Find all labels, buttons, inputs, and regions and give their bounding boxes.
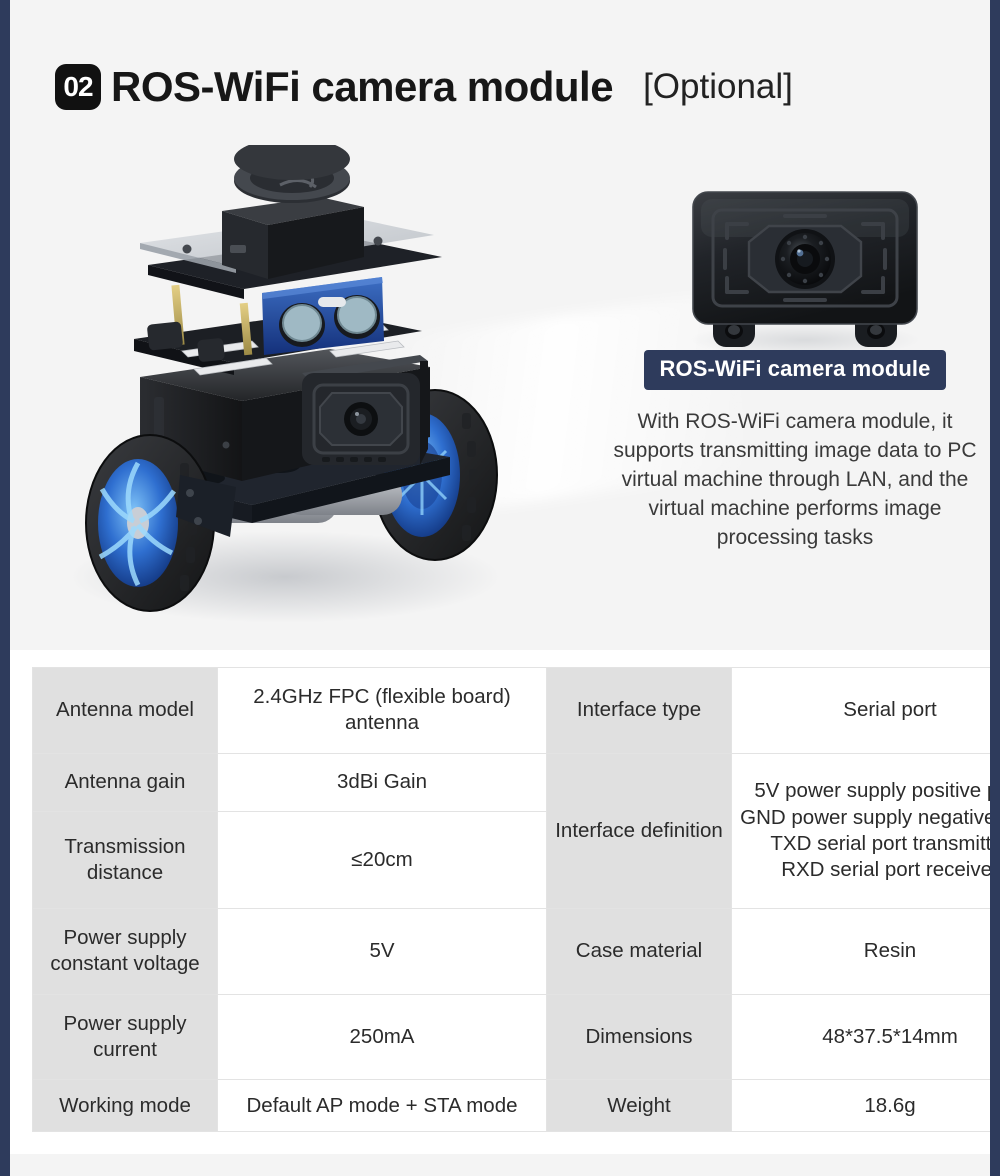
spec-value: Serial port [732, 668, 1000, 754]
spec-value: Default AP mode + STA mode [218, 1080, 547, 1132]
spec-table-container: Antenna model 2.4GHz FPC (flexible board… [10, 650, 990, 1154]
spec-value: 5V [218, 908, 547, 994]
spec-value: 3dBi Gain [218, 753, 547, 811]
robot-image [30, 145, 550, 635]
spec-label: Working mode [33, 1080, 218, 1132]
module-name-badge: ROS-WiFi camera module [644, 350, 947, 390]
spec-value: 250mA [218, 994, 547, 1080]
module-description: With ROS-WiFi camera module, it supports… [610, 408, 980, 553]
table-row: Working mode Default AP mode + STA mode … [33, 1080, 1000, 1132]
page-title: ROS-WiFi camera module [111, 63, 613, 111]
page-header: 02 ROS-WiFi camera module [Optional] [0, 52, 1000, 122]
right-edge-rail [990, 0, 1000, 1176]
spec-label: Dimensions [547, 994, 732, 1080]
table-row: Power supply current 250mA Dimensions 48… [33, 994, 1000, 1080]
spec-label: Antenna model [33, 668, 218, 754]
spec-value: 5V power supply positive pole GND power … [732, 753, 1000, 908]
product-page: 02 ROS-WiFi camera module [Optional] [0, 0, 1000, 1176]
spec-label: Interface definition [547, 753, 732, 908]
camera-module-image [665, 180, 945, 360]
robot-lidar [222, 145, 364, 279]
spec-value: Resin [732, 908, 1000, 994]
camera-info-column: ROS-WiFi camera module With ROS-WiFi cam… [610, 350, 980, 553]
spec-label: Antenna gain [33, 753, 218, 811]
spec-label: Power supply constant voltage [33, 908, 218, 994]
spec-label: Case material [547, 908, 732, 994]
spec-label: Weight [547, 1080, 732, 1132]
spec-value: 48*37.5*14mm [732, 994, 1000, 1080]
table-row: Power supply constant voltage 5V Case ma… [33, 908, 1000, 994]
spec-label: Interface type [547, 668, 732, 754]
robot-ultrasonic-sensor [262, 277, 384, 355]
spec-value: ≤20cm [218, 811, 547, 908]
hero-section: ROS-WiFi camera module With ROS-WiFi cam… [10, 135, 990, 645]
table-row: Antenna gain 3dBi Gain Interface definit… [33, 753, 1000, 811]
spec-label: Transmission distance [33, 811, 218, 908]
optional-tag: [Optional] [643, 67, 793, 107]
spec-value: 2.4GHz FPC (flexible board) antenna [218, 668, 547, 754]
section-number-badge: 02 [55, 64, 101, 110]
left-edge-rail [0, 0, 10, 1176]
spec-value: 18.6g [732, 1080, 1000, 1132]
spec-table: Antenna model 2.4GHz FPC (flexible board… [32, 667, 1000, 1132]
table-row: Antenna model 2.4GHz FPC (flexible board… [33, 668, 1000, 754]
spec-label: Power supply current [33, 994, 218, 1080]
